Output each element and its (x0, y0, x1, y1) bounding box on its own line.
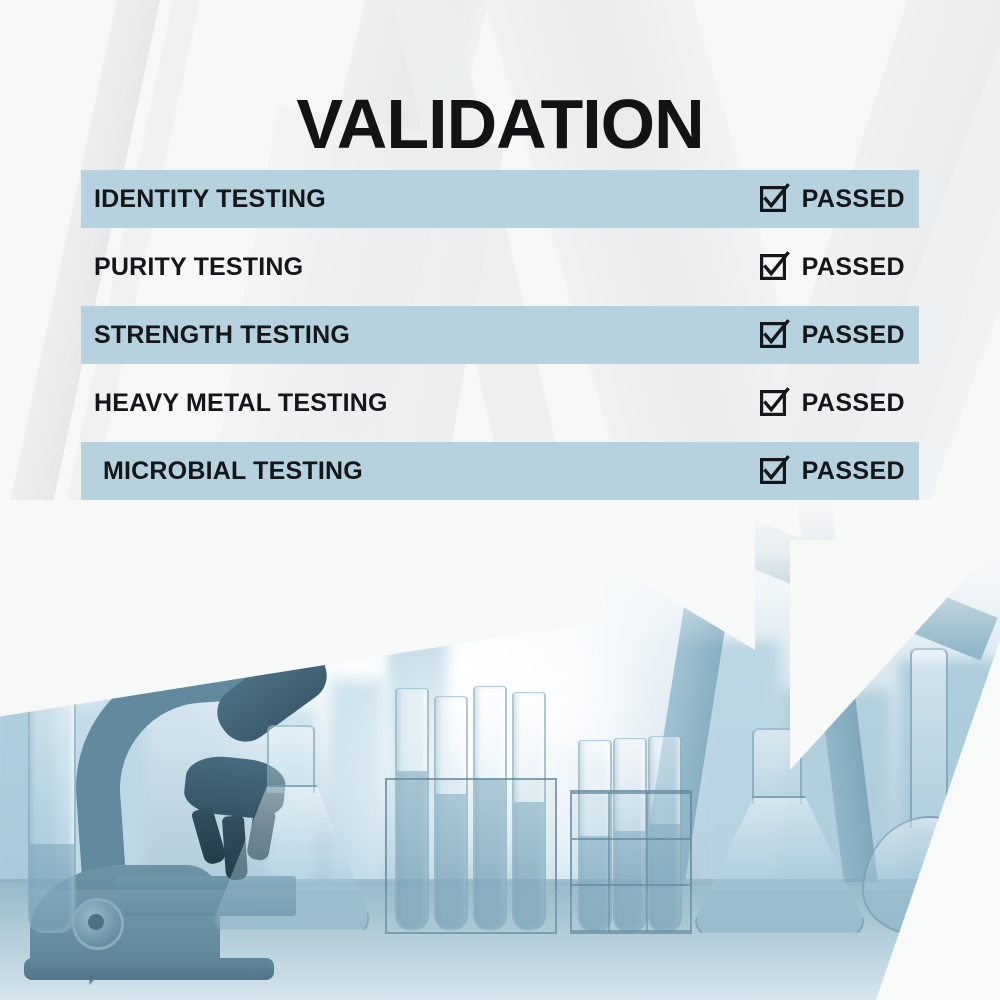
status-badge: PASSED (802, 321, 905, 350)
checklist-row[interactable]: STRENGTH TESTING PASSED (81, 306, 919, 364)
status-badge: PASSED (802, 389, 905, 418)
page-title: VALIDATION (0, 89, 1000, 159)
checked-checkbox-icon[interactable] (760, 322, 786, 348)
graduated-cylinder (28, 700, 76, 933)
status-group: PASSED (760, 185, 905, 214)
status-group: PASSED (760, 321, 905, 350)
poster-canvas: VALIDATION IDENTITY TESTING PASSED PURIT… (0, 0, 1000, 1000)
checked-checkbox-icon[interactable] (760, 458, 786, 484)
test-name-label: MICROBIAL TESTING (103, 457, 363, 486)
checklist-row[interactable]: IDENTITY TESTING PASSED (81, 170, 919, 228)
test-tube-holder (385, 778, 557, 934)
status-group: PASSED (760, 389, 905, 418)
test-name-label: HEAVY METAL TESTING (94, 389, 388, 418)
status-badge: PASSED (802, 185, 905, 214)
status-group: PASSED (760, 457, 905, 486)
laboratory-glassware-photo (0, 500, 1000, 1000)
test-name-label: IDENTITY TESTING (94, 185, 326, 214)
status-badge: PASSED (802, 253, 905, 282)
checklist-row[interactable]: HEAVY METAL TESTING PASSED (81, 374, 919, 432)
test-tube-rack (570, 790, 692, 934)
checklist-row[interactable]: PURITY TESTING PASSED (81, 238, 919, 296)
overlay-shape (505, 500, 755, 650)
checked-checkbox-icon[interactable] (760, 254, 786, 280)
overlay-shape (876, 640, 1000, 1000)
status-group: PASSED (760, 253, 905, 282)
erlenmeyer-flask (215, 725, 365, 930)
status-badge: PASSED (802, 457, 905, 486)
validation-checklist: IDENTITY TESTING PASSED PURITY TESTING (81, 170, 919, 510)
test-name-label: STRENGTH TESTING (94, 321, 350, 350)
checked-checkbox-icon[interactable] (760, 186, 786, 212)
checked-checkbox-icon[interactable] (760, 390, 786, 416)
test-name-label: PURITY TESTING (94, 253, 303, 282)
checklist-row[interactable]: MICROBIAL TESTING PASSED (81, 442, 919, 500)
